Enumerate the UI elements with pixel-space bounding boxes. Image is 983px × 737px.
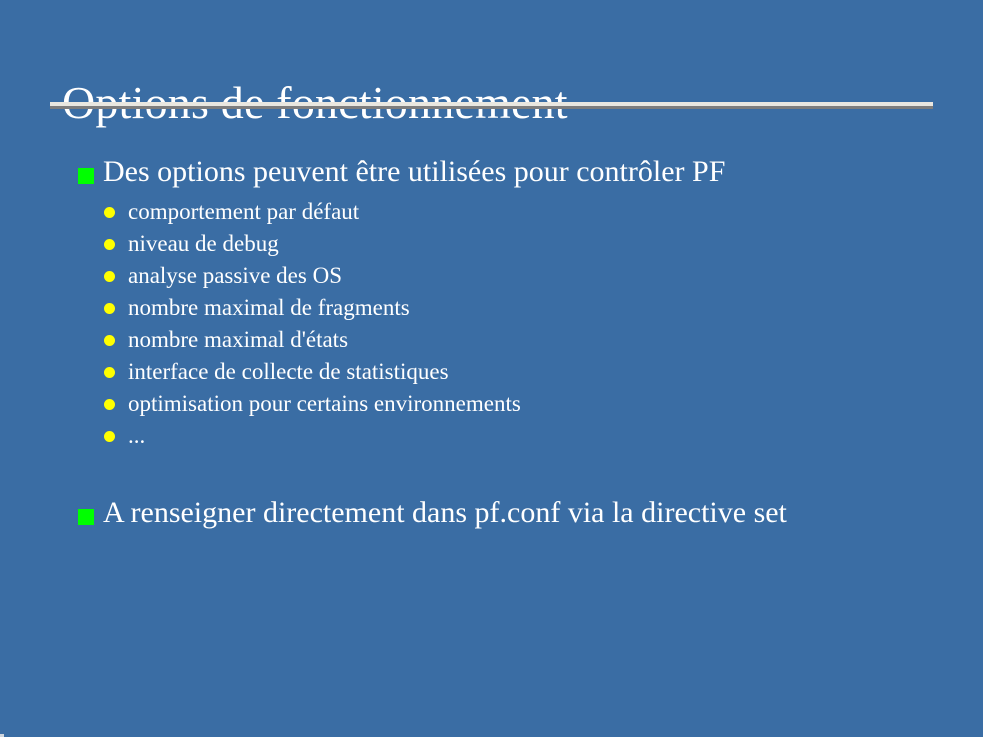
bullet-level2-text: nombre maximal de fragments (128, 295, 410, 320)
bullet-level2-text: comportement par défaut (128, 199, 359, 224)
bullet-level1-item: A renseigner directement dans pf.conf vi… (0, 489, 983, 537)
list-item: niveau de debug (0, 228, 983, 260)
square-bullet-icon (78, 509, 94, 525)
dot-bullet-icon (104, 399, 115, 410)
dot-bullet-icon (104, 239, 115, 250)
list-item: interface de collecte de statistiques (0, 356, 983, 388)
slide-body: Des options peuvent être utilisées pour … (0, 148, 983, 537)
square-bullet-icon (78, 168, 94, 184)
dot-bullet-icon (104, 367, 115, 378)
dot-bullet-icon (104, 335, 115, 346)
dot-bullet-icon (104, 431, 115, 442)
list-item: nombre maximal d'états (0, 324, 983, 356)
title-divider-shadow (50, 106, 933, 109)
dot-bullet-icon (104, 271, 115, 282)
dot-bullet-icon (104, 207, 115, 218)
bullet-level2-text: analyse passive des OS (128, 263, 342, 288)
bullet-level2-list: comportement par défaut niveau de debug … (0, 196, 983, 452)
list-item: nombre maximal de fragments (0, 292, 983, 324)
bullet-level2-text: optimisation pour certains environnement… (128, 391, 521, 416)
bullet-level1-item: Des options peuvent être utilisées pour … (0, 148, 983, 196)
bullet-level2-text: nombre maximal d'états (128, 327, 348, 352)
dot-bullet-icon (104, 303, 115, 314)
list-item: ... (0, 420, 983, 452)
vertical-spacer (0, 452, 983, 489)
bullet-level1-text: A renseigner directement dans pf.conf vi… (103, 496, 787, 529)
bullet-level2-text: niveau de debug (128, 231, 279, 256)
list-item: analyse passive des OS (0, 260, 983, 292)
list-item: comportement par défaut (0, 196, 983, 228)
list-item: optimisation pour certains environnement… (0, 388, 983, 420)
bullet-level1-text: Des options peuvent être utilisées pour … (103, 155, 725, 188)
bullet-level2-text: interface de collecte de statistiques (128, 359, 449, 384)
presentation-slide: Options de fonctionnement Des options pe… (0, 0, 983, 737)
title-divider (50, 102, 933, 109)
bullet-level2-text: ... (128, 423, 145, 448)
